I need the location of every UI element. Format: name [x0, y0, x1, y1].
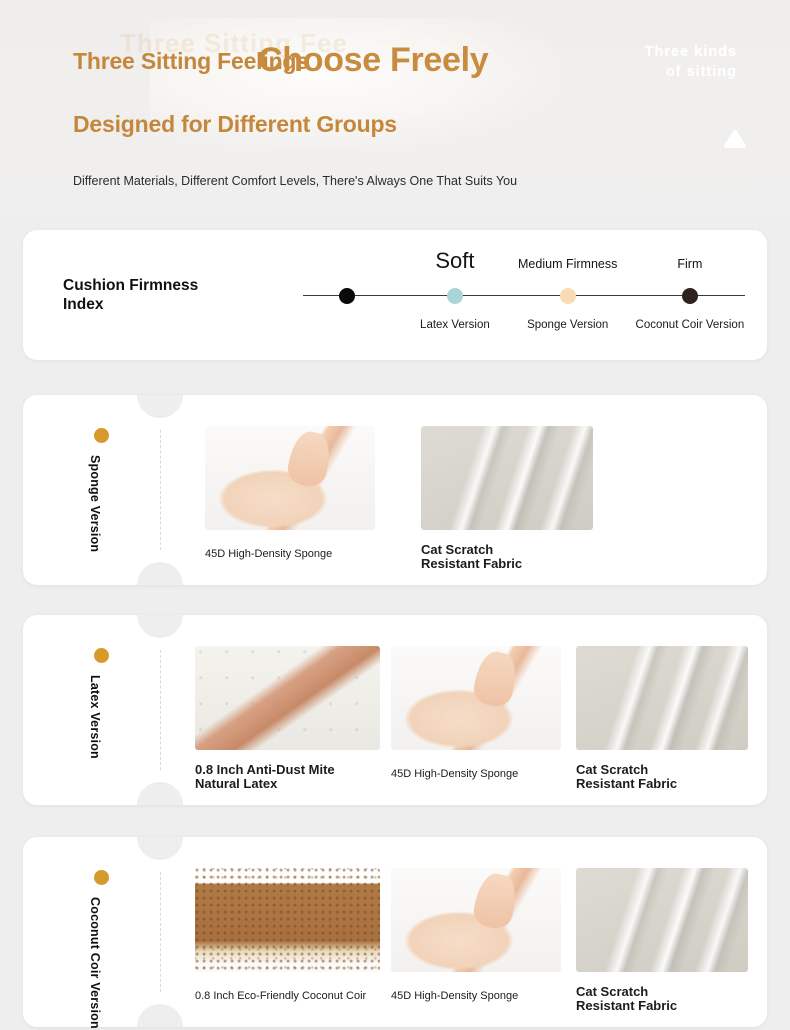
media-caption: Cat Scratch Resistant Fabric	[421, 543, 522, 571]
version-label: Latex Version	[88, 675, 102, 759]
media-item[interactable]: Cat Scratch Resistant Fabric	[576, 646, 748, 750]
media-item[interactable]: Cat Scratch Resistant Fabric	[576, 868, 748, 972]
sponge-press-photo	[391, 646, 561, 750]
firmness-dot-coconut[interactable]	[682, 288, 698, 304]
firmness-index-title: Cushion Firmness Index	[63, 276, 243, 314]
firmness-scale-line	[303, 295, 745, 296]
media-caption: 0.8 Inch Eco-Friendly Coconut Coir	[195, 990, 366, 1003]
firmness-bottom-label-sponge: Sponge Version	[527, 319, 608, 331]
firmness-scale: SoftLatex VersionMedium FirmnessSponge V…	[281, 230, 751, 360]
firmness-bottom-label-coconut: Coconut Coir Version	[636, 319, 745, 331]
firmness-top-label-latex: Soft	[435, 248, 474, 274]
latex-hand-press-photo	[195, 646, 380, 750]
media-item[interactable]: 0.8 Inch Eco-Friendly Coconut Coir	[195, 868, 380, 972]
version-label: Coconut Coir Version	[88, 897, 102, 1029]
cushion-firmness-index-card: Cushion Firmness Index SoftLatex Version…	[23, 230, 767, 360]
firmness-bottom-label-latex: Latex Version	[420, 319, 490, 331]
card-dashed-divider	[160, 650, 161, 770]
media-area: 45D High-Density SpongeCat Scratch Resis…	[173, 395, 753, 585]
media-item[interactable]: 45D High-Density Sponge	[205, 426, 375, 530]
sponge-press-photo	[205, 426, 375, 530]
media-item[interactable]: 45D High-Density Sponge	[391, 646, 561, 750]
firmness-dot-unlabeled[interactable]	[339, 288, 355, 304]
hero-banner: Three Sitting Fee Three Sitting Feelings…	[0, 0, 790, 212]
version-dot	[94, 870, 109, 885]
sponge-press-photo	[391, 868, 561, 972]
media-item[interactable]: 0.8 Inch Anti-Dust Mite Natural Latex	[195, 646, 380, 750]
version-label: Sponge Version	[88, 455, 102, 552]
hero-title-big: Choose Freely	[258, 41, 488, 80]
firmness-top-label-coconut: Firm	[677, 257, 702, 271]
version-dot	[94, 428, 109, 443]
media-area: 0.8 Inch Eco-Friendly Coconut Coir45D Hi…	[173, 837, 753, 1027]
media-item[interactable]: Cat Scratch Resistant Fabric	[421, 426, 593, 530]
firmness-top-label-sponge: Medium Firmness	[518, 257, 617, 271]
media-caption: Cat Scratch Resistant Fabric	[576, 985, 677, 1013]
version-dot	[94, 648, 109, 663]
hero-title-subheading: Designed for Different Groups	[73, 111, 397, 138]
card-dashed-divider	[160, 430, 161, 550]
product-card-sponge[interactable]: Sponge Version 45D High-Density SpongeCa…	[23, 395, 767, 585]
card-dashed-divider	[160, 872, 161, 992]
media-item[interactable]: 45D High-Density Sponge	[391, 868, 561, 972]
media-caption: 0.8 Inch Anti-Dust Mite Natural Latex	[195, 763, 335, 791]
cat-scratch-fabric-photo	[576, 868, 748, 972]
media-caption: 45D High-Density Sponge	[205, 548, 332, 561]
firmness-dot-latex[interactable]	[447, 288, 463, 304]
hero-description: Different Materials, Different Comfort L…	[73, 174, 517, 188]
cat-scratch-fabric-photo	[421, 426, 593, 530]
media-caption: 45D High-Density Sponge	[391, 990, 518, 1003]
media-caption: 45D High-Density Sponge	[391, 768, 518, 781]
hero-corner-text: Three kinds of sitting	[645, 42, 737, 82]
media-caption: Cat Scratch Resistant Fabric	[576, 763, 677, 791]
product-card-coconut-coir[interactable]: Coconut Coir Version 0.8 Inch Eco-Friend…	[23, 837, 767, 1027]
coconut-coir-block-photo	[195, 868, 380, 972]
cat-scratch-fabric-photo	[576, 646, 748, 750]
media-area: 0.8 Inch Anti-Dust Mite Natural Latex45D…	[173, 615, 753, 805]
product-card-latex[interactable]: Latex Version 0.8 Inch Anti-Dust Mite Na…	[23, 615, 767, 805]
triangle-icon	[722, 128, 748, 150]
firmness-dot-sponge[interactable]	[560, 288, 576, 304]
